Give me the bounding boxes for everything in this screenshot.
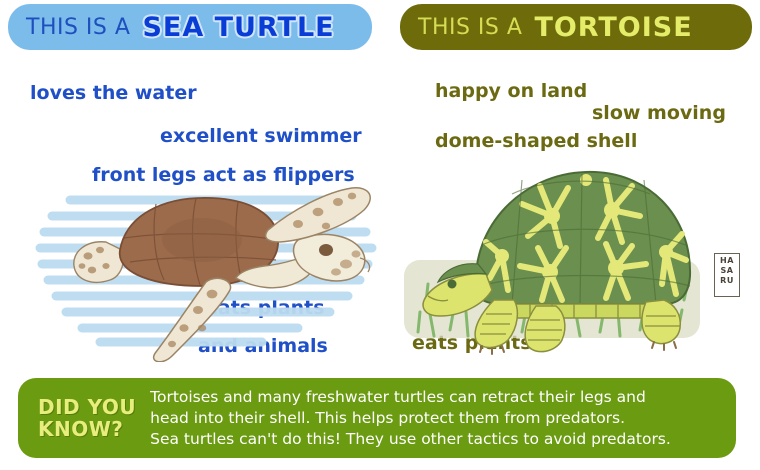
- shell-highlight: [162, 218, 242, 262]
- tortoise-drawing: [400, 160, 730, 360]
- label-happy-on-land: happy on land: [435, 80, 587, 102]
- did-you-know-banner: DID YOU KNOW? Tortoises and many freshwa…: [18, 378, 736, 458]
- infographic-page: THIS IS A SEA TURTLE THIS IS A TORTOISE …: [0, 0, 760, 470]
- tortoise-eye: [448, 280, 457, 289]
- sea-turtle-drawing: [30, 182, 390, 362]
- did-you-know-body: Tortoises and many freshwater turtles ca…: [150, 387, 722, 450]
- sea-turtle-front-flipper-lower: [154, 278, 231, 361]
- label-excellent-swimmer: excellent swimmer: [160, 125, 362, 147]
- header-prefix-tortoise: THIS IS A: [418, 15, 522, 40]
- tortoise-rear-leg: [642, 300, 680, 344]
- did-you-know-title-line-2: KNOW?: [38, 418, 136, 440]
- did-you-know-title-line-1: DID YOU: [38, 396, 136, 418]
- tortoise-middle-leg: [525, 306, 565, 352]
- signature-line-1: HA: [715, 256, 739, 266]
- tortoise-illustration: [400, 160, 730, 360]
- artist-signature: HA SA RU: [714, 253, 740, 297]
- sea-turtle-illustration: [30, 182, 390, 362]
- label-dome-shaped-shell: dome-shaped shell: [435, 130, 637, 152]
- did-you-know-body-line-2: head into their shell. This helps protec…: [150, 408, 722, 429]
- label-loves-the-water: loves the water: [30, 82, 197, 104]
- header-banner-tortoise: THIS IS A TORTOISE: [400, 4, 752, 50]
- header-subject-tortoise: TORTOISE: [534, 12, 692, 43]
- signature-line-3: RU: [715, 276, 739, 286]
- did-you-know-body-line-3: Sea turtles can't do this! They use othe…: [150, 429, 722, 450]
- did-you-know-title: DID YOU KNOW?: [38, 396, 136, 440]
- header-prefix-sea-turtle: THIS IS A: [26, 15, 130, 40]
- header-subject-sea-turtle: SEA TURTLE: [142, 12, 334, 43]
- signature-line-2: SA: [715, 266, 739, 276]
- did-you-know-body-line-1: Tortoises and many freshwater turtles ca…: [150, 387, 722, 408]
- header-banner-sea-turtle: THIS IS A SEA TURTLE: [8, 4, 372, 50]
- sea-turtle-eye: [319, 244, 333, 256]
- label-slow-moving: slow moving: [592, 102, 726, 124]
